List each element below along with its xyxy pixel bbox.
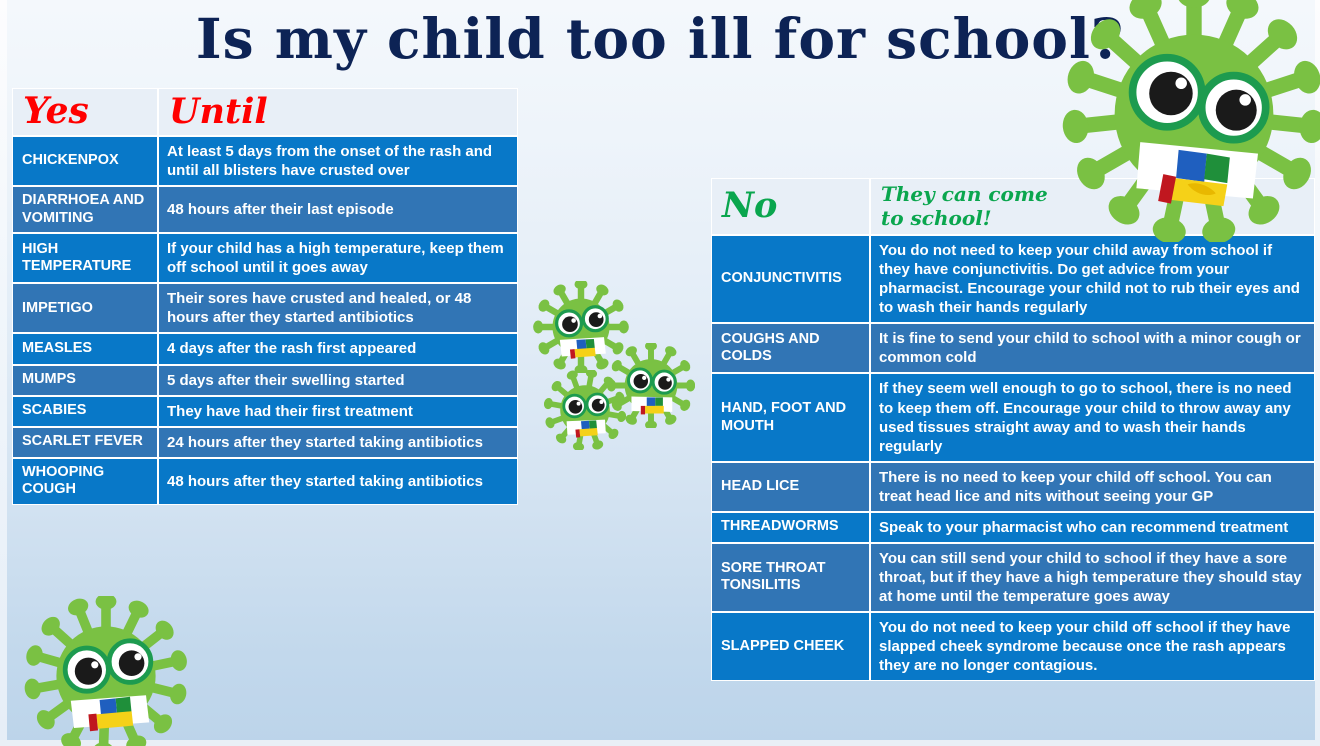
condition-advice: Speak to your pharmacist who can recomme… [870, 512, 1315, 543]
condition-advice: 48 hours after their last episode [158, 186, 518, 233]
condition-name: SCABIES [12, 396, 158, 427]
condition-name: CONJUNCTIVITIS [711, 235, 870, 323]
table-row: HEAD LICE There is no need to keep your … [711, 462, 1315, 512]
poster-canvas: Is my child too ill for school? Yes Unti… [0, 0, 1320, 746]
condition-name: THREADWORMS [711, 512, 870, 543]
condition-advice: At least 5 days from the onset of the ra… [158, 136, 518, 186]
no-table: No They can come to school! CONJUNCTIVIT… [711, 178, 1315, 681]
table-row: SCARLET FEVER 24 hours after they starte… [12, 427, 518, 458]
virus-mascot-icon [544, 370, 626, 450]
table-row: DIARRHOEA AND VOMITING 48 hours after th… [12, 186, 518, 233]
table-row: THREADWORMS Speak to your pharmacist who… [711, 512, 1315, 543]
table-row: COUGHS AND COLDS It is fine to send your… [711, 323, 1315, 373]
table-row: SLAPPED CHEEK You do not need to keep yo… [711, 612, 1315, 681]
condition-name: WHOOPING COUGH [12, 458, 158, 505]
condition-advice: They have had their first treatment [158, 396, 518, 427]
condition-name: SORE THROAT TONSILITIS [711, 543, 870, 612]
condition-advice: 4 days after the rash first appeared [158, 333, 518, 364]
virus-mascot-icon [18, 596, 194, 746]
condition-name: CHICKENPOX [12, 136, 158, 186]
virus-face-mask-icon [567, 420, 606, 438]
table-row: WHOOPING COUGH 48 hours after they start… [12, 458, 518, 505]
condition-advice: There is no need to keep your child off … [870, 462, 1315, 512]
virus-face-mask-icon [71, 695, 149, 731]
condition-advice: You can still send your child to school … [870, 543, 1315, 612]
table-row: HAND, FOOT AND MOUTH If they seem well e… [711, 373, 1315, 461]
condition-advice: If they seem well enough to go to school… [870, 373, 1315, 461]
until-label: Until [169, 94, 507, 131]
yes-label: Yes [23, 93, 147, 131]
condition-advice: If your child has a high temperature, ke… [158, 233, 518, 283]
condition-name: HEAD LICE [711, 462, 870, 512]
yes-table-header-row: Yes Until [12, 88, 518, 136]
table-row: HIGH TEMPERATURE If your child has a hig… [12, 233, 518, 283]
left-edge-strip [0, 0, 7, 746]
condition-advice: 24 hours after they started taking antib… [158, 427, 518, 458]
no-label: No [722, 188, 859, 225]
condition-name: MUMPS [12, 365, 158, 396]
condition-name: HIGH TEMPERATURE [12, 233, 158, 283]
until-header-cell: Until [158, 88, 518, 136]
condition-name: SLAPPED CHEEK [711, 612, 870, 681]
condition-name: COUGHS AND COLDS [711, 323, 870, 373]
yes-table: Yes Until CHICKENPOX At least 5 days fro… [12, 88, 518, 505]
yes-header-cell: Yes [12, 88, 158, 136]
bottom-edge-strip [0, 740, 1320, 746]
condition-advice: You do not need to keep your child away … [870, 235, 1315, 323]
no-header-cell: No [711, 178, 870, 235]
table-row: IMPETIGO Their sores have crusted and he… [12, 283, 518, 333]
condition-name: IMPETIGO [12, 283, 158, 333]
table-row: CONJUNCTIVITIS You do not need to keep y… [711, 235, 1315, 323]
condition-advice: Their sores have crusted and healed, or … [158, 283, 518, 333]
table-row: MEASLES 4 days after the rash first appe… [12, 333, 518, 364]
table-row: SCABIES They have had their first treatm… [12, 396, 518, 427]
condition-name: MEASLES [12, 333, 158, 364]
table-row: MUMPS 5 days after their swelling starte… [12, 365, 518, 396]
virus-mascot-icon [1056, 0, 1320, 242]
condition-advice: You do not need to keep your child off s… [870, 612, 1315, 681]
condition-name: DIARRHOEA AND VOMITING [12, 186, 158, 233]
condition-advice: It is fine to send your child to school … [870, 323, 1315, 373]
condition-name: SCARLET FEVER [12, 427, 158, 458]
table-row: CHICKENPOX At least 5 days from the onse… [12, 136, 518, 186]
table-row: SORE THROAT TONSILITIS You can still sen… [711, 543, 1315, 612]
condition-advice: 48 hours after they started taking antib… [158, 458, 518, 505]
condition-name: HAND, FOOT AND MOUTH [711, 373, 870, 461]
condition-advice: 5 days after their swelling started [158, 365, 518, 396]
